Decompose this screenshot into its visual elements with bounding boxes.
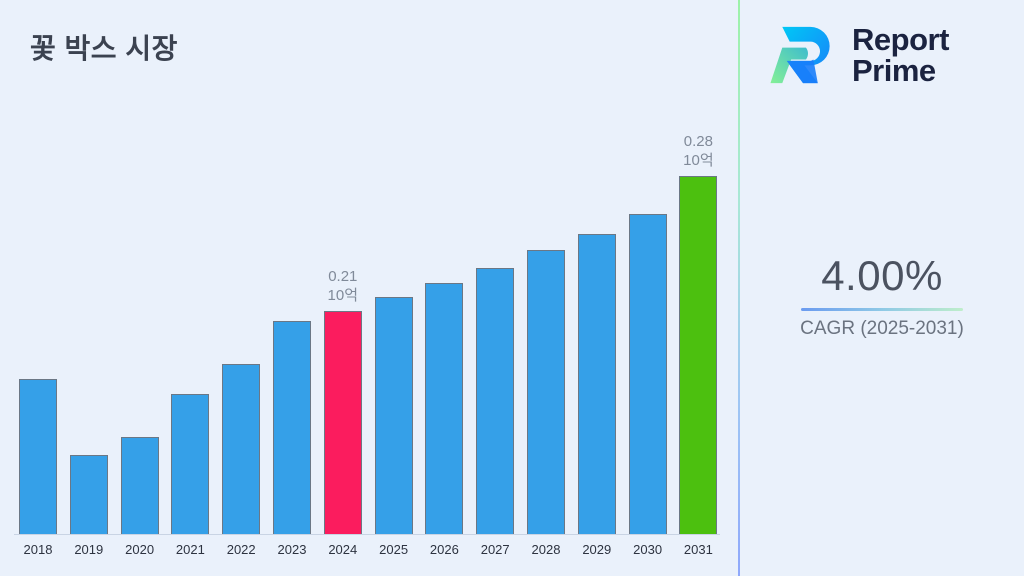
bar-group [425,283,463,534]
bar-value-number: 0.28 [683,132,714,151]
bar-group [527,250,565,534]
bar-2020[interactable] [121,437,159,534]
x-tick-2019: 2019 [70,542,108,557]
bar-2018[interactable] [19,379,57,534]
bar-2027[interactable] [476,268,514,534]
bar-group [476,268,514,534]
bar-value-unit: 10억 [683,151,714,170]
bar-group [375,297,413,534]
cagr-label: CAGR (2025-2031) [740,317,1024,341]
bar-group [121,437,159,534]
bar-2025[interactable] [375,297,413,534]
bar-2019[interactable] [70,455,108,534]
bar-value-unit: 10억 [328,286,359,305]
x-tick-2020: 2020 [121,542,159,557]
chart-panel: 꽃 박스 시장 2018201920202021202220230.2110억2… [0,0,738,576]
side-panel: Report Prime 4.00% CAGR (2025-2031) [740,0,1024,576]
x-tick-2027: 2027 [476,542,514,557]
cagr-divider-rule [801,308,963,311]
x-tick-2025: 2025 [375,542,413,557]
brand-logo: Report Prime [766,14,1006,96]
bar-2026[interactable] [425,283,463,534]
bar-group [629,214,667,534]
plot-area: 2018201920202021202220230.2110억202420252… [0,0,738,576]
cagr-value: 4.00% [740,250,1024,302]
axis-baseline [14,534,720,535]
bar-2022[interactable] [222,364,260,534]
x-tick-2029: 2029 [578,542,616,557]
bar-2028[interactable] [527,250,565,534]
report-prime-logo-mark [766,18,840,92]
bar-group [578,234,616,534]
bar-2024[interactable] [324,311,362,534]
cagr-block: 4.00% CAGR (2025-2031) [740,250,1024,341]
x-tick-2024: 2024 [324,542,362,557]
x-tick-2026: 2026 [425,542,463,557]
bar-group: 0.2110억 [324,311,362,534]
x-tick-2022: 2022 [222,542,260,557]
bar-2031[interactable] [679,176,717,534]
bar-group [19,379,57,534]
bar-2029[interactable] [578,234,616,534]
bar-value-label-2031: 0.2810억 [683,132,714,170]
bar-group [171,394,209,534]
bar-2030[interactable] [629,214,667,534]
bar-2023[interactable] [273,321,311,534]
x-tick-2028: 2028 [527,542,565,557]
x-tick-2018: 2018 [19,542,57,557]
bar-value-number: 0.21 [328,267,359,286]
chart-page: 꽃 박스 시장 2018201920202021202220230.2110억2… [0,0,1024,576]
x-tick-2021: 2021 [171,542,209,557]
bar-group [273,321,311,534]
bar-group [222,364,260,534]
x-tick-2030: 2030 [629,542,667,557]
brand-wordmark-line1: Report [852,24,949,55]
bar-group: 0.2810억 [679,176,717,534]
x-tick-2031: 2031 [679,542,717,557]
bar-2021[interactable] [171,394,209,534]
brand-wordmark: Report Prime [852,24,949,86]
bar-value-label-2024: 0.2110억 [328,267,359,305]
brand-wordmark-line2: Prime [852,55,949,86]
bar-group [70,455,108,534]
x-tick-2023: 2023 [273,542,311,557]
